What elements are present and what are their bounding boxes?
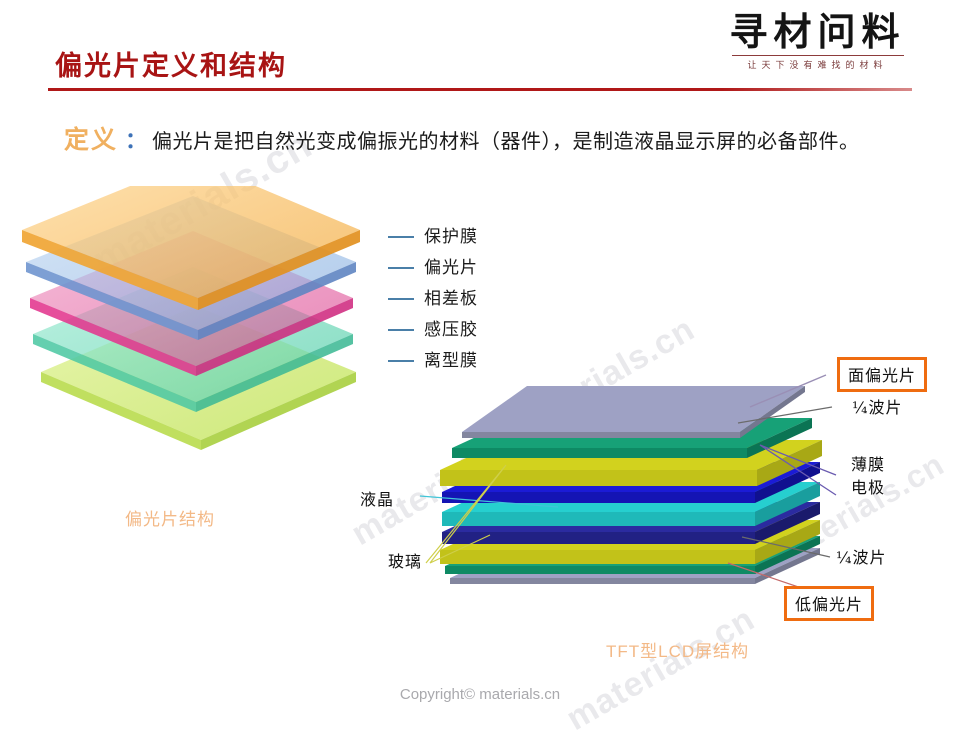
leader-dash-icon bbox=[388, 298, 414, 300]
layer-label-row: 偏光片 bbox=[388, 253, 508, 284]
slide-canvas: materials.cn materials.cn materials.cn m… bbox=[0, 0, 960, 720]
definition-text: 偏光片是把自然光变成偏振光的材料（器件），是制造液晶显示屏的必备部件。 bbox=[152, 125, 860, 154]
callout-thin-film: 薄膜 bbox=[851, 455, 885, 475]
callout-glass: 玻璃 bbox=[388, 552, 422, 572]
logo-wordmark: 寻材问料 bbox=[710, 12, 925, 52]
title-divider bbox=[48, 88, 912, 91]
leader-dash-icon bbox=[388, 329, 414, 331]
leader-dash-icon bbox=[388, 267, 414, 269]
callout-quarter-wave-bottom: ¼波片 bbox=[836, 548, 887, 568]
left-diagram-caption: 偏光片结构 bbox=[125, 505, 215, 530]
definition-colon: ： bbox=[125, 123, 147, 155]
layer-label: 感压胶 bbox=[424, 315, 478, 340]
copyright-footer: Copyright© materials.cn bbox=[0, 686, 960, 703]
callout-quarter-wave-top: ¼波片 bbox=[852, 398, 903, 418]
layer-label-row: 保护膜 bbox=[388, 222, 508, 253]
logo-divider bbox=[732, 55, 904, 56]
layer-label: 保护膜 bbox=[424, 222, 478, 247]
callout-front-polarizer: 面偏光片 bbox=[837, 357, 927, 392]
logo-tagline: 让天下没有难找的材料 bbox=[710, 58, 925, 71]
layer-label: 相差板 bbox=[424, 284, 478, 309]
brand-logo: 寻材问料 让天下没有难找的材料 bbox=[710, 12, 925, 71]
callout-liquid-crystal: 液晶 bbox=[360, 490, 394, 510]
definition-row: 定义 ： 偏光片是把自然光变成偏振光的材料（器件），是制造液晶显示屏的必备部件。 bbox=[64, 120, 860, 156]
callout-rear-polarizer: 低偏光片 bbox=[784, 586, 874, 621]
page-title: 偏光片定义和结构 bbox=[55, 44, 287, 83]
leader-dash-icon bbox=[388, 236, 414, 238]
layer-label-row: 感压胶 bbox=[388, 315, 508, 346]
layer-label-row: 相差板 bbox=[388, 284, 508, 315]
callout-electrode: 电极 bbox=[851, 478, 885, 498]
layer-label: 偏光片 bbox=[424, 253, 478, 278]
definition-keyword: 定义 bbox=[64, 120, 118, 156]
